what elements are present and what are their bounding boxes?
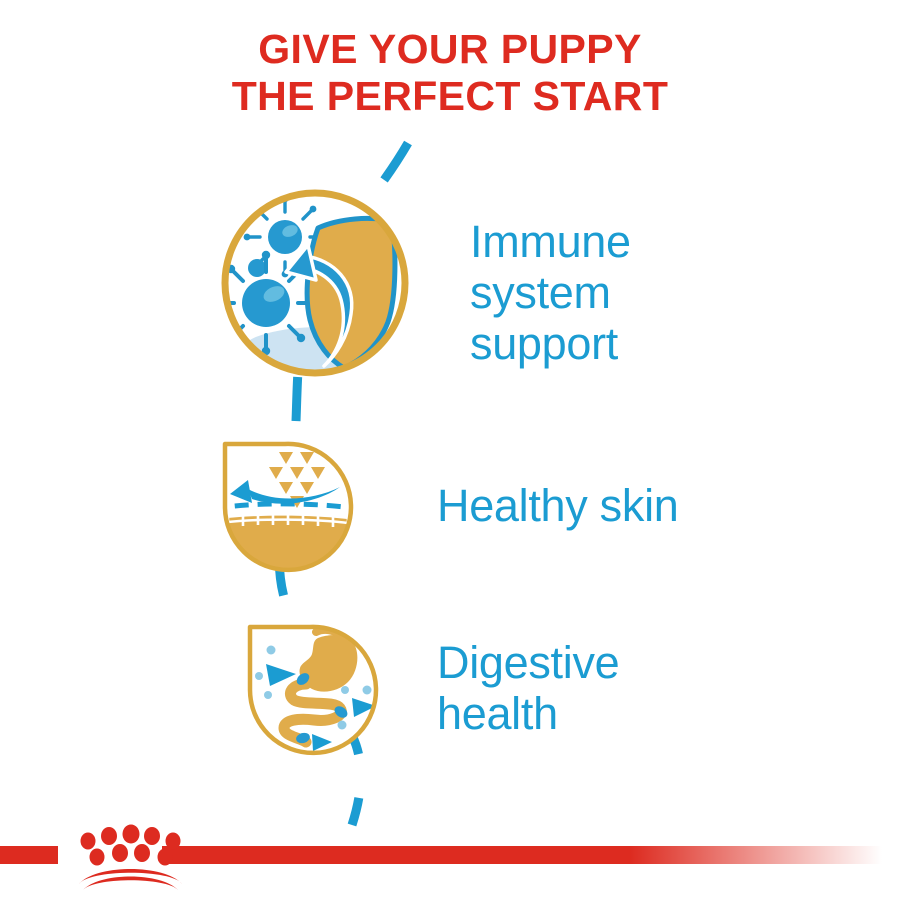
- benefit-label-digestive: Digestive health: [437, 637, 757, 739]
- virus-dot: [248, 259, 266, 277]
- illustration-layer: [0, 0, 900, 900]
- stomach-intestine-icon: [250, 627, 376, 753]
- benefit-label-immune: Immune system support: [470, 216, 770, 369]
- skin-barrier-icon: [212, 444, 364, 580]
- poster-canvas: GIVE YOUR PUPPY THE PERFECT START: [0, 0, 900, 900]
- shield-virus-icon: [214, 193, 405, 373]
- benefit-label-skin: Healthy skin: [437, 480, 777, 531]
- royal-canin-crown-icon: [58, 825, 182, 891]
